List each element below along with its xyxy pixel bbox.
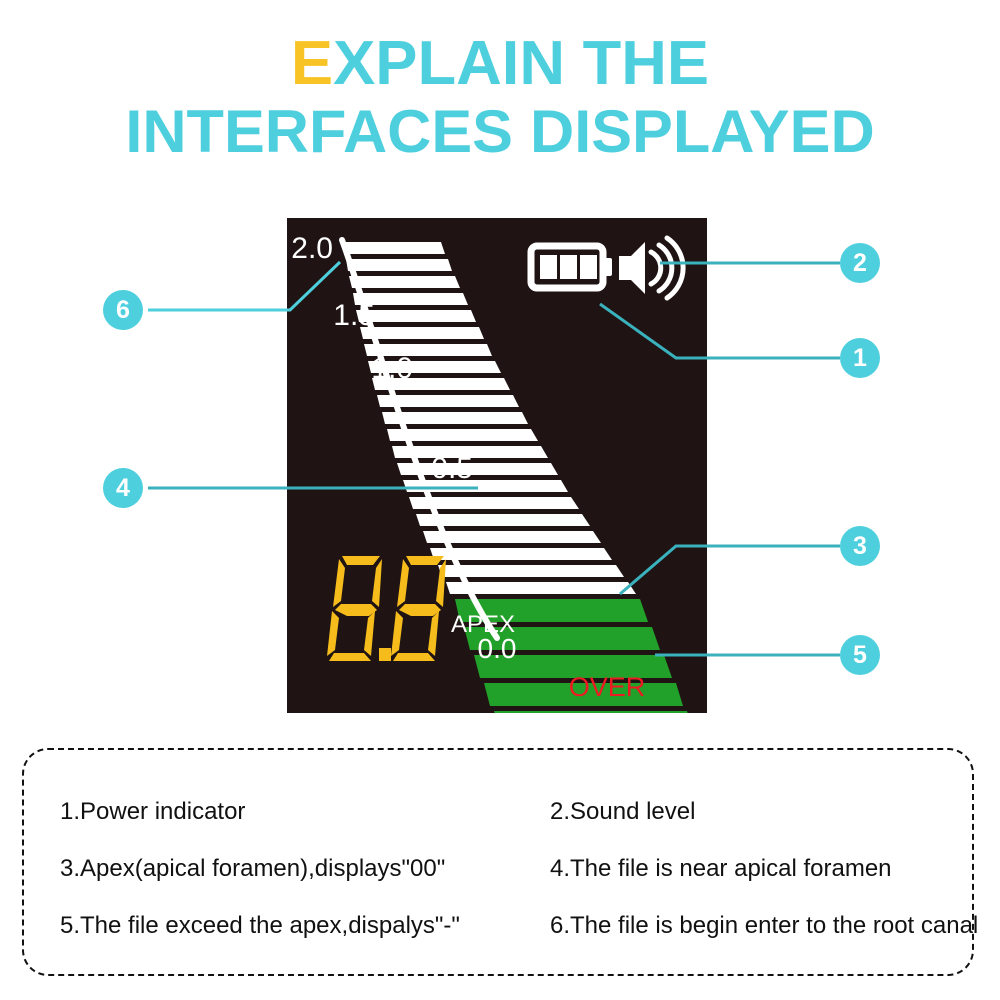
- over-label: OVER: [569, 672, 646, 702]
- callout-bubble-4[interactable]: 4: [103, 468, 143, 508]
- legend-item-3: 3.Apex(apical foramen),displays"00": [60, 855, 528, 883]
- callout-bubble-5[interactable]: 5: [840, 635, 880, 675]
- callout-bubble-2[interactable]: 2: [840, 243, 880, 283]
- callout-bubble-3[interactable]: 3: [840, 526, 880, 566]
- scale-label-0-5: 0.5: [431, 452, 473, 485]
- legend-item-2: 2.Sound level: [528, 798, 960, 826]
- title-highlight-letter: E: [291, 29, 333, 98]
- legend-box: 1.Power indicator 2.Sound level 3.Apex(a…: [22, 748, 974, 976]
- speaker-waves-icon: [619, 238, 683, 298]
- page-title: EXPLAIN THE INTERFACES DISPLAYED: [0, 34, 1000, 162]
- display-graphics: 2.0 1.5 1.0 0.5 APEX 0.0 OVER: [287, 218, 707, 713]
- callout-bubble-1[interactable]: 1: [840, 338, 880, 378]
- title-line-1-rest: XPLAIN THE: [333, 29, 709, 98]
- white-scale-segments: [343, 242, 636, 594]
- device-display-panel: 2.0 1.5 1.0 0.5 APEX 0.0 OVER: [287, 218, 707, 713]
- legend-item-5: 5.The file exceed the apex,dispalys"-": [60, 912, 528, 940]
- legend-grid: 1.Power indicator 2.Sound level 3.Apex(a…: [60, 784, 960, 954]
- scale-label-2-0: 2.0: [291, 232, 333, 265]
- scale-label-1-5: 1.5: [333, 299, 375, 332]
- title-line-2: INTERFACES DISPLAYED: [0, 102, 1000, 162]
- page-root: EXPLAIN THE INTERFACES DISPLAYED: [0, 0, 1000, 1000]
- battery-icon: [531, 246, 612, 288]
- legend-item-6: 6.The file is begin enter to the root ca…: [528, 912, 960, 940]
- scale-label-1-0: 1.0: [371, 352, 413, 385]
- digital-readout: [327, 556, 446, 661]
- legend-item-4: 4.The file is near apical foramen: [528, 855, 960, 883]
- title-line-1: EXPLAIN THE: [0, 34, 1000, 94]
- apex-value: 0.0: [478, 633, 517, 664]
- legend-item-1: 1.Power indicator: [60, 798, 528, 826]
- callout-bubble-6[interactable]: 6: [103, 290, 143, 330]
